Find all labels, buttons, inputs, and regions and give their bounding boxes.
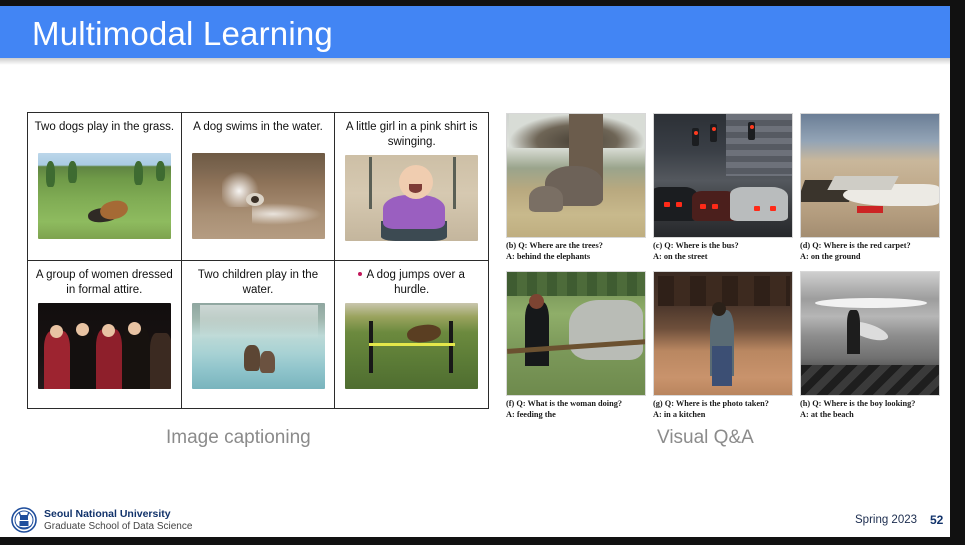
vqa-cell-woman-horse: (f) Q: What is the woman doing? A: feedi… bbox=[506, 271, 646, 427]
caption-text: Two dogs play in the grass. bbox=[35, 120, 174, 148]
vqa-caption: (h) Q: Where is the boy looking? A: at t… bbox=[800, 399, 940, 421]
vqa-image-street-bus bbox=[653, 113, 793, 238]
vqa-caption: (b) Q: Where are the trees? A: behind th… bbox=[506, 241, 646, 263]
vqa-row-bottom: (f) Q: What is the woman doing? A: feedi… bbox=[506, 271, 941, 427]
section-label-image-captioning: Image captioning bbox=[166, 427, 311, 449]
chrome-edge-right bbox=[950, 0, 965, 545]
caption-image-dogs-grass bbox=[38, 153, 171, 239]
caption-cell-dogs-grass: Two dogs play in the grass. bbox=[28, 113, 181, 260]
vqa-question: (d) Q: Where is the red carpet? bbox=[800, 241, 940, 252]
slide-title-bar: Multimodal Learning bbox=[0, 6, 950, 58]
vqa-answer: A: behind the elephants bbox=[506, 252, 646, 263]
bullet-dot-icon bbox=[358, 272, 362, 276]
vqa-question: (b) Q: Where are the trees? bbox=[506, 241, 646, 252]
vqa-answer: A: at the beach bbox=[800, 410, 940, 421]
caption-image-children-water bbox=[192, 303, 325, 389]
caption-image-girl-swinging bbox=[345, 155, 478, 241]
section-label-visual-qa: Visual Q&A bbox=[657, 427, 754, 449]
snu-crest-logo-icon bbox=[11, 507, 37, 533]
vqa-image-woman-horse bbox=[506, 271, 646, 396]
visual-qa-grid: (b) Q: Where are the trees? A: behind th… bbox=[506, 113, 941, 408]
vqa-answer: A: on the ground bbox=[800, 252, 940, 263]
footer-page-number: 52 bbox=[930, 513, 943, 527]
vqa-question: (c) Q: Where is the bus? bbox=[653, 241, 793, 252]
caption-text: A dog jumps over a hurdle. bbox=[341, 268, 482, 298]
caption-text: A little girl in a pink shirt is swingin… bbox=[341, 120, 482, 150]
caption-cell-children-water: Two children play in the water. bbox=[181, 261, 335, 408]
vqa-row-top: (b) Q: Where are the trees? A: behind th… bbox=[506, 113, 941, 269]
vqa-question: (f) Q: What is the woman doing? bbox=[506, 399, 646, 410]
vqa-cell-kitchen: (g) Q: Where is the photo taken? A: in a… bbox=[653, 271, 793, 427]
caption-row-bottom: A group of women dressed in formal attir… bbox=[28, 261, 488, 408]
page-title: Multimodal Learning bbox=[32, 15, 333, 53]
vqa-caption: (c) Q: Where is the bus? A: on the stree… bbox=[653, 241, 793, 263]
slide-canvas: Multimodal Learning Two dogs play in the… bbox=[0, 0, 965, 545]
footer-university-name: Seoul National University bbox=[44, 508, 171, 520]
image-captioning-table: Two dogs play in the grass. A dog swims … bbox=[27, 112, 489, 409]
vqa-question: (g) Q: Where is the photo taken? bbox=[653, 399, 793, 410]
vqa-image-red-carpet bbox=[800, 113, 940, 238]
caption-cell-dog-swims: A dog swims in the water. bbox=[181, 113, 335, 260]
caption-cell-girl-swinging: A little girl in a pink shirt is swingin… bbox=[334, 113, 488, 260]
vqa-answer: A: in a kitchen bbox=[653, 410, 793, 421]
vqa-cell-elephants: (b) Q: Where are the trees? A: behind th… bbox=[506, 113, 646, 269]
vqa-image-kitchen bbox=[653, 271, 793, 396]
vqa-image-beach-boy bbox=[800, 271, 940, 396]
vqa-answer: A: on the street bbox=[653, 252, 793, 263]
caption-text: A dog swims in the water. bbox=[193, 120, 323, 148]
caption-text: A group of women dressed in formal attir… bbox=[34, 268, 175, 298]
vqa-cell-beach-boy: (h) Q: Where is the boy looking? A: at t… bbox=[800, 271, 940, 427]
vqa-question: (h) Q: Where is the boy looking? bbox=[800, 399, 940, 410]
vqa-answer: A: feeding the bbox=[506, 410, 646, 421]
vqa-cell-street-bus: (c) Q: Where is the bus? A: on the stree… bbox=[653, 113, 793, 269]
vqa-caption: (f) Q: What is the woman doing? A: feedi… bbox=[506, 399, 646, 421]
caption-text: Two children play in the water. bbox=[188, 268, 329, 298]
vqa-caption: (d) Q: Where is the red carpet? A: on th… bbox=[800, 241, 940, 263]
chrome-edge-bottom bbox=[0, 537, 965, 545]
caption-cell-dog-hurdle: A dog jumps over a hurdle. bbox=[334, 261, 488, 408]
footer-department-name: Graduate School of Data Science bbox=[44, 521, 192, 532]
caption-row-top: Two dogs play in the grass. A dog swims … bbox=[28, 113, 488, 261]
footer-term: Spring 2023 bbox=[855, 514, 917, 526]
caption-text-label: A dog jumps over a hurdle. bbox=[366, 269, 464, 296]
caption-image-dog-swims bbox=[192, 153, 325, 239]
caption-image-dog-hurdle bbox=[345, 303, 478, 389]
vqa-image-elephants bbox=[506, 113, 646, 238]
title-bar-shadow bbox=[0, 58, 950, 65]
caption-cell-women-formal: A group of women dressed in formal attir… bbox=[28, 261, 181, 408]
vqa-caption: (g) Q: Where is the photo taken? A: in a… bbox=[653, 399, 793, 421]
caption-image-women-formal bbox=[38, 303, 171, 389]
vqa-cell-red-carpet: (d) Q: Where is the red carpet? A: on th… bbox=[800, 113, 940, 269]
